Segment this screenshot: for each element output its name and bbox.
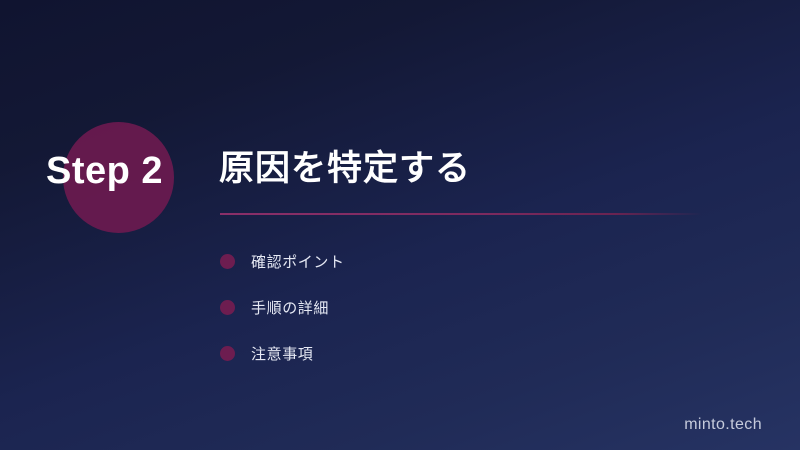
list-item: 注意事項 — [220, 330, 345, 376]
presentation-slide: Step 2 原因を特定する 確認ポイント 手順の詳細 注意事項 minto.t… — [0, 0, 800, 450]
bullet-dot-icon — [220, 254, 235, 269]
list-item: 確認ポイント — [220, 238, 345, 284]
list-item: 手順の詳細 — [220, 284, 345, 330]
step-label: Step 2 — [46, 152, 163, 190]
title-divider — [220, 213, 702, 215]
list-item-label: 確認ポイント — [251, 251, 345, 272]
list-item-label: 注意事項 — [251, 343, 313, 364]
list-item-label: 手順の詳細 — [251, 297, 329, 318]
footer-brand: minto.tech — [684, 416, 762, 434]
bullet-dot-icon — [220, 346, 235, 361]
bullet-dot-icon — [220, 300, 235, 315]
page-title: 原因を特定する — [219, 150, 471, 189]
bullet-list: 確認ポイント 手順の詳細 注意事項 — [220, 238, 345, 376]
